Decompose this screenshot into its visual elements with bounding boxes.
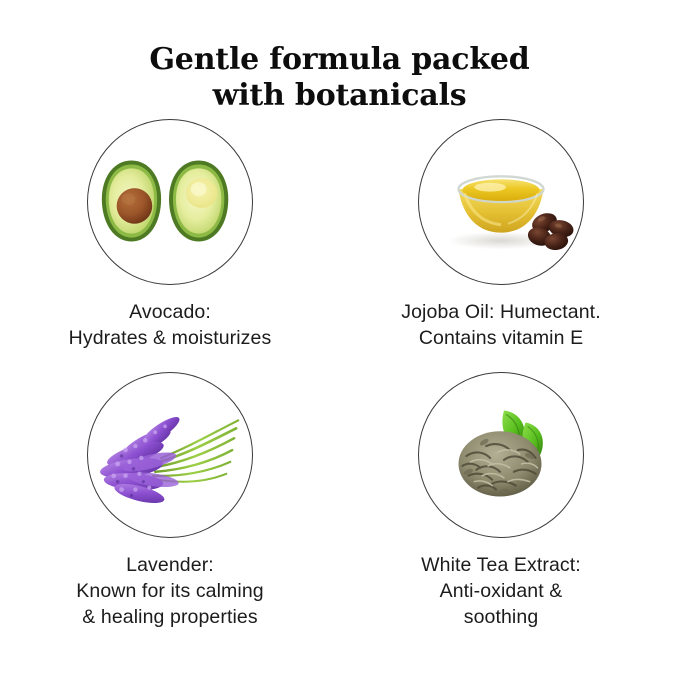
ingredient-image-circle-jojoba-oil bbox=[418, 119, 584, 285]
caption-line: Anti-oxidant & bbox=[351, 578, 651, 604]
lavender-flowers bbox=[99, 413, 183, 507]
caption-line: Avocado: bbox=[20, 299, 320, 325]
ingredient-caption-lavender: Lavender: Known for its calming & healin… bbox=[20, 552, 320, 630]
caption-line: & healing properties bbox=[20, 604, 320, 630]
caption-line: Jojoba Oil: Humectant. bbox=[351, 299, 651, 325]
caption-line: Known for its calming bbox=[20, 578, 320, 604]
ingredient-image-circle-white-tea-extract bbox=[418, 372, 584, 538]
caption-line: Hydrates & moisturizes bbox=[20, 325, 320, 351]
page-title: Gentle formula packed with botanicals bbox=[0, 42, 679, 114]
ingredient-caption-white-tea-extract: White Tea Extract: Anti-oxidant & soothi… bbox=[351, 552, 651, 630]
ingredients-infographic: Gentle formula packed with botanicals bbox=[0, 0, 679, 679]
dried-tea-leaves-pile bbox=[459, 431, 542, 496]
white-tea-leaves-photo bbox=[419, 373, 583, 537]
ingredient-image-circle-avocado bbox=[87, 119, 253, 285]
lavender-bundle-photo bbox=[88, 373, 252, 537]
page-title-line-2: with botanicals bbox=[0, 78, 679, 114]
oil-bowl bbox=[459, 176, 544, 232]
caption-line: soothing bbox=[351, 604, 651, 630]
caption-line: Contains vitamin E bbox=[351, 325, 651, 351]
ingredient-card-lavender: Lavender: Known for its calming & healin… bbox=[20, 372, 320, 630]
ingredient-caption-jojoba-oil: Jojoba Oil: Humectant. Contains vitamin … bbox=[351, 299, 651, 351]
jojoba-oil-bowl-photo bbox=[419, 120, 583, 284]
ingredient-card-white-tea-extract: White Tea Extract: Anti-oxidant & soothi… bbox=[351, 372, 651, 630]
ingredient-card-jojoba-oil: Jojoba Oil: Humectant. Contains vitamin … bbox=[351, 119, 651, 351]
avocado-half-left bbox=[102, 161, 161, 242]
ingredient-card-avocado: Avocado: Hydrates & moisturizes bbox=[20, 119, 320, 351]
ingredient-image-circle-lavender bbox=[87, 372, 253, 538]
page-title-line-1: Gentle formula packed bbox=[0, 42, 679, 78]
caption-line: Lavender: bbox=[20, 552, 320, 578]
avocado-half-right bbox=[169, 161, 228, 242]
ingredient-caption-avocado: Avocado: Hydrates & moisturizes bbox=[20, 299, 320, 351]
caption-line: White Tea Extract: bbox=[351, 552, 651, 578]
avocado-halves-photo bbox=[88, 120, 252, 284]
